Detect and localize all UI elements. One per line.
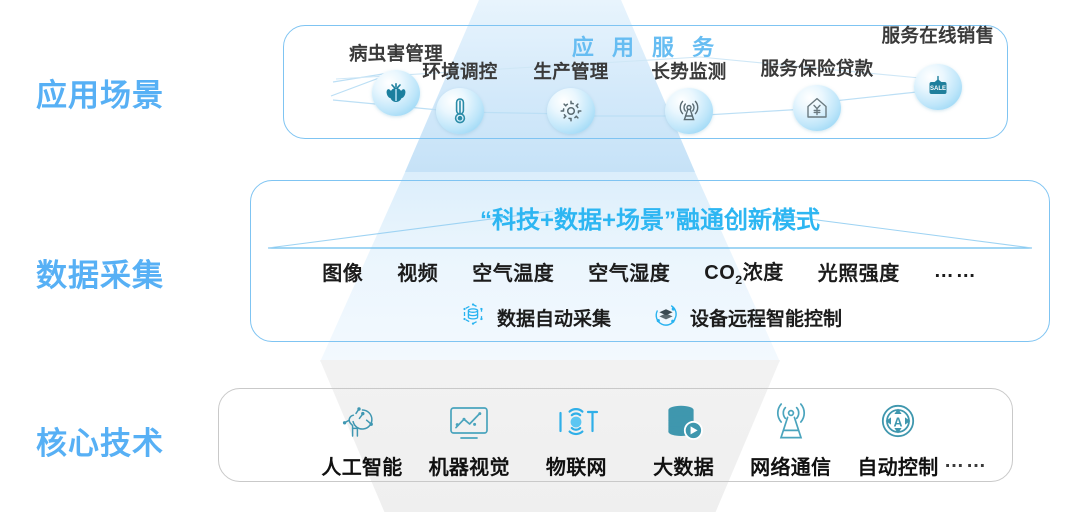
tech-item-label: 网络通信	[750, 451, 831, 480]
data-item-ellipsis: ……	[934, 260, 978, 283]
row-label-core-technology: 核心技术	[36, 418, 164, 463]
data-item-co2: CO2浓度	[704, 256, 783, 287]
app-node-label: 长势监测	[651, 58, 726, 84]
row-label-application: 应用场景	[36, 70, 164, 115]
app-node-online-sales[interactable]: 服务在线销售 SALE	[853, 22, 1023, 132]
database-node-icon	[458, 300, 488, 335]
signal-tower-icon	[665, 88, 713, 134]
app-node-production-management[interactable]: 生产管理	[506, 58, 636, 168]
data-feature-list: 数据自动采集 设备远程智能控制	[250, 300, 1050, 334]
auto-control-icon: A	[874, 396, 922, 446]
thermometer-icon	[436, 88, 484, 134]
tech-item-network-comm[interactable]: 网络通信	[749, 396, 833, 480]
app-node-growth-monitoring[interactable]: 长势监测	[624, 58, 754, 168]
data-item: 空气湿度	[588, 257, 670, 286]
big-data-icon	[660, 396, 708, 446]
co2-prefix: CO	[704, 262, 735, 284]
core-technology-ellipsis: ……	[944, 450, 988, 473]
data-item-list: 图像 视频 空气温度 空气湿度 CO2浓度 光照强度 ……	[250, 255, 1050, 287]
tech-item-auto-control[interactable]: A 自动控制	[856, 396, 940, 480]
data-feature-auto-collection: 数据自动采集	[458, 300, 611, 335]
iot-icon	[552, 396, 600, 446]
antenna-signal-icon	[765, 396, 817, 446]
row-label-data-collection: 数据采集	[36, 250, 164, 295]
tech-item-iot[interactable]: 物联网	[534, 396, 618, 480]
data-item: 视频	[397, 257, 438, 286]
data-item: 图像	[322, 257, 363, 286]
tech-item-ai[interactable]: 人工智能	[320, 396, 404, 480]
data-item: 空气温度	[472, 257, 554, 286]
data-panel-title: “科技+数据+场景”融通创新模式	[250, 200, 1050, 235]
svg-text:SALE: SALE	[930, 86, 946, 92]
data-feature-label: 设备远程智能控制	[690, 304, 842, 331]
tech-item-label: 机器视觉	[429, 451, 510, 480]
tech-item-big-data[interactable]: 大数据	[642, 396, 726, 480]
co2-suffix: 浓度	[743, 262, 784, 284]
co2-subscript: 2	[735, 273, 742, 287]
sale-tag-icon: SALE	[914, 64, 962, 110]
tech-item-label: 大数据	[653, 451, 714, 480]
app-node-label: 生产管理	[533, 58, 608, 84]
tech-item-label: 物联网	[546, 451, 607, 480]
data-feature-label: 数据自动采集	[497, 304, 611, 331]
tech-item-machine-vision[interactable]: 机器视觉	[427, 396, 511, 480]
app-node-label: 服务在线销售	[882, 22, 995, 48]
data-item: 光照强度	[818, 257, 900, 286]
tech-item-label: 人工智能	[321, 451, 402, 480]
gear-icon	[547, 88, 595, 134]
core-technology-list: 人工智能 机器视觉	[320, 392, 940, 480]
app-node-label: 环境调控	[422, 58, 497, 84]
svg-text:A: A	[893, 415, 902, 429]
house-yuan-icon	[793, 85, 841, 131]
data-feature-remote-control: 设备远程智能控制	[651, 300, 842, 335]
layers-sync-icon	[651, 300, 681, 335]
monitor-chart-icon	[445, 396, 493, 446]
ai-brain-icon	[339, 396, 385, 446]
tech-item-label: 自动控制	[857, 451, 938, 480]
diagram-canvas: 应用场景 应 用 服 务 病虫害管理	[0, 0, 1080, 512]
